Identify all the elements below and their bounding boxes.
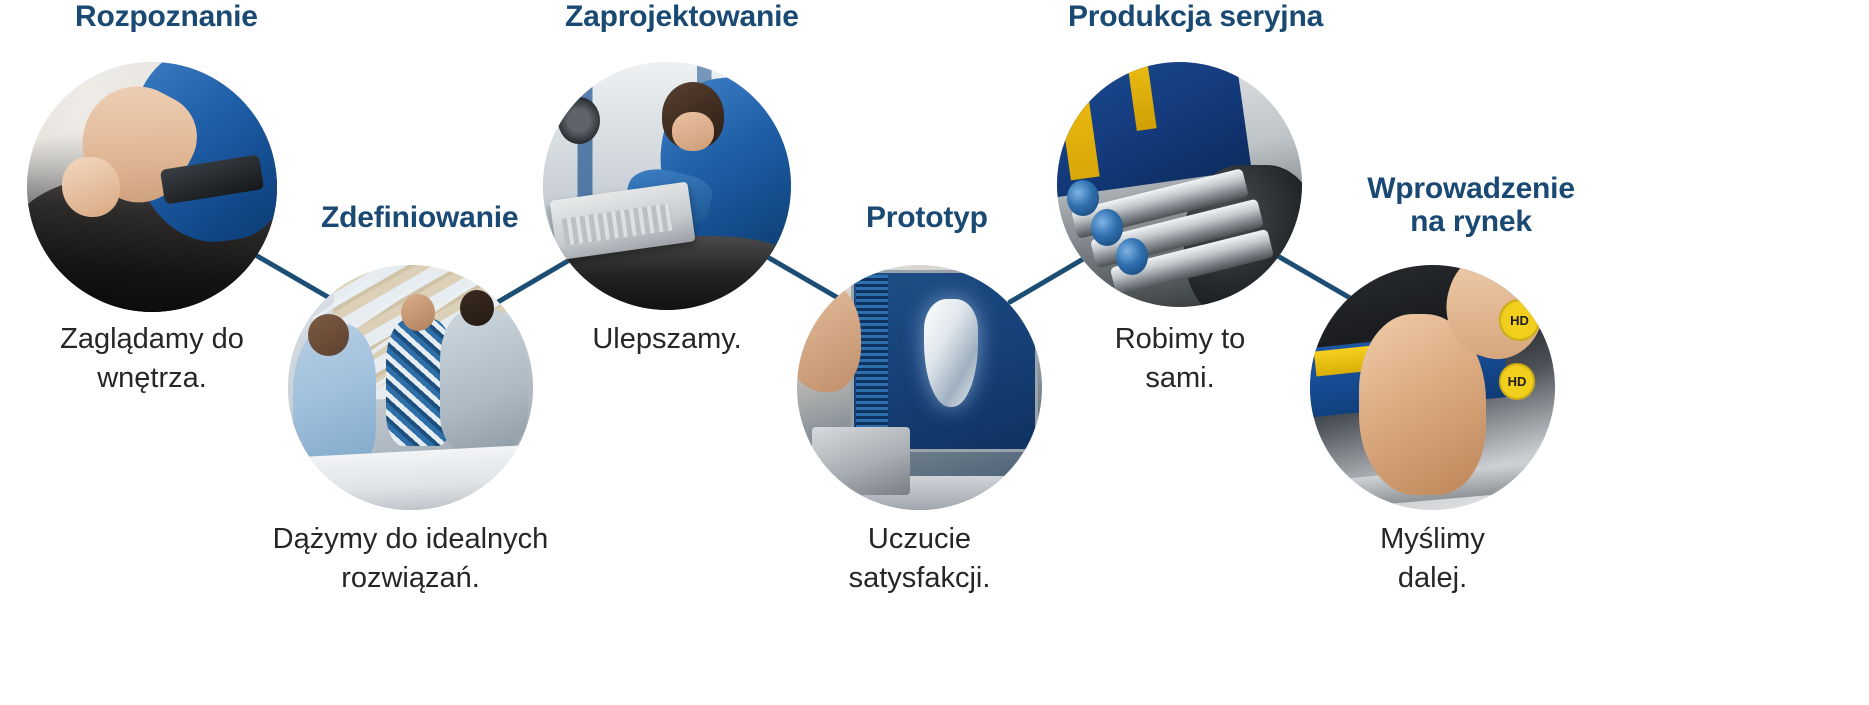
step-caption-zdefiniowanie: Dążymy do idealnych rozwiązań. <box>253 520 568 598</box>
caption-line-2: sami. <box>1040 359 1320 398</box>
hand-shape <box>62 157 120 217</box>
step-caption-rozpoznanie: Zaglądamy do wnętrza. <box>12 320 292 398</box>
caption-line-1: Zaglądamy do <box>12 320 292 359</box>
step-caption-produkcja-seryjna: Robimy to sami. <box>1040 320 1320 398</box>
metal-fixture-shape <box>812 427 910 496</box>
tyre-shape <box>558 97 600 144</box>
caption-line-2: rozwiązań. <box>253 559 568 598</box>
mechanic-inspecting-car-engine-photo <box>27 62 277 312</box>
technician-with-laptop-at-engine-bay-photo <box>543 62 791 310</box>
cad-model-on-screen-photo <box>797 265 1042 510</box>
hand-applying-hd-quality-label-photo: HD HD <box>1310 265 1555 510</box>
step-caption-prototyp: Uczucie satysfakcji. <box>762 520 1077 598</box>
caption-line-2: dalej. <box>1290 559 1575 598</box>
caption-line-1: Myślimy <box>1290 520 1575 559</box>
step-caption-zaprojektowanie: Ulepszamy. <box>527 320 807 359</box>
person-right-shape <box>440 309 528 451</box>
step-heading-rozpoznanie: Rozpoznanie <box>75 0 258 33</box>
engineering-team-reviewing-blueprints-photo <box>288 265 533 510</box>
blue-collar-shape <box>1116 238 1148 275</box>
step-image-zdefiniowanie[interactable] <box>288 265 533 510</box>
step-image-prototyp[interactable] <box>797 265 1042 510</box>
blue-collar-shape <box>1067 180 1099 217</box>
step-heading-prototyp: Prototyp <box>866 201 988 234</box>
hd-badge-icon: HD <box>1499 363 1536 400</box>
step-image-rozpoznanie[interactable] <box>27 62 277 312</box>
caption-line-1: Uczucie <box>762 520 1077 559</box>
face-shape <box>672 112 714 152</box>
process-diagram: Rozpoznanie Zaglądamy do wnętrza. Zdefin… <box>0 0 1869 705</box>
caption-line-1: Dążymy do idealnych <box>253 520 568 559</box>
blue-collar-shape <box>1091 209 1123 246</box>
hd-badge-icon: HD <box>1499 299 1541 341</box>
step-image-zaprojektowanie[interactable] <box>543 62 791 310</box>
caption-line-1: Robimy to <box>1040 320 1320 359</box>
person-center-head-shape <box>401 294 435 331</box>
heading-line-1: Wprowadzenie <box>1346 172 1596 205</box>
person-left-head-shape <box>308 314 350 356</box>
step-heading-wprowadzenie-na-rynek: Wprowadzenie na rynek <box>1346 172 1596 238</box>
ui-sidebar-shape <box>856 275 888 437</box>
caption-line-2: satysfakcji. <box>762 559 1077 598</box>
step-heading-zaprojektowanie: Zaprojektowanie <box>565 0 799 33</box>
step-caption-wprowadzenie-na-rynek: Myślimy dalej. <box>1290 520 1575 598</box>
person-right-head-shape <box>460 290 494 327</box>
series-production-line-parts-photo <box>1057 62 1302 307</box>
caption-line-1: Ulepszamy. <box>527 320 807 359</box>
step-heading-produkcja-seryjna: Produkcja seryjna <box>1068 0 1323 33</box>
step-heading-zdefiniowanie: Zdefiniowanie <box>321 201 518 234</box>
caption-line-2: wnętrza. <box>12 359 292 398</box>
heading-line-2: na rynek <box>1346 205 1596 238</box>
step-image-produkcja-seryjna[interactable] <box>1057 62 1302 307</box>
step-image-wprowadzenie-na-rynek[interactable]: HD HD <box>1310 265 1555 510</box>
